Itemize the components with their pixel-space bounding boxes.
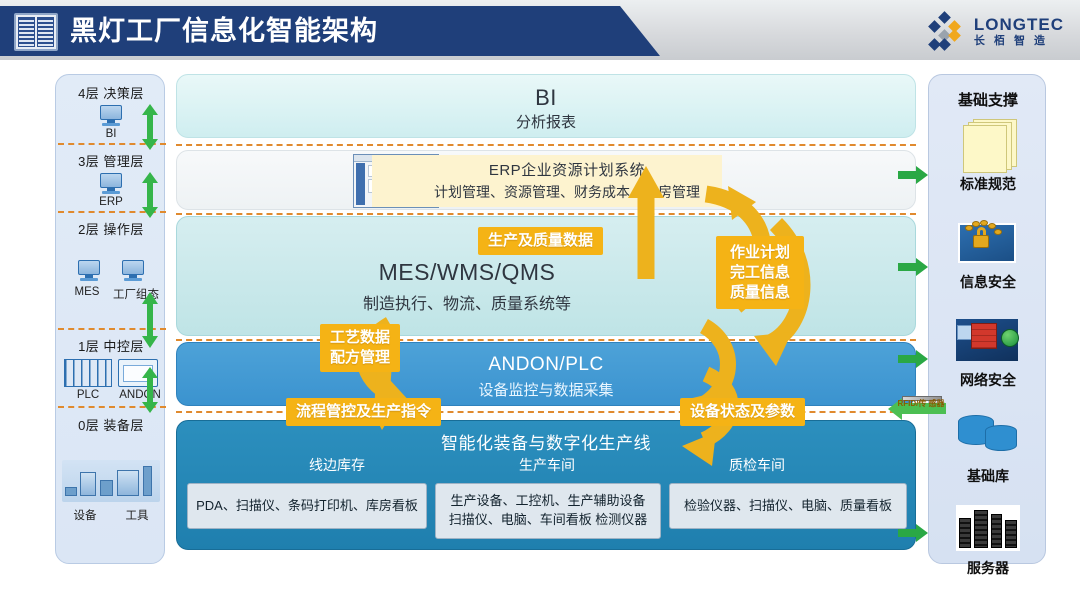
layer-device-plc: PLC — [60, 389, 116, 401]
andon-title: ANDON/PLC — [177, 354, 915, 376]
layer-device-mes: MES — [66, 286, 108, 298]
callout-job-plan: 作业计划 完工信息 质量信息 — [716, 236, 804, 309]
lock-monitor-icon — [953, 215, 1023, 269]
database-cylinder-icon — [953, 409, 1023, 463]
firewall-globe-icon — [953, 313, 1023, 367]
desktop-pc-icon-mes — [78, 260, 100, 281]
rail-bi-erp — [176, 144, 916, 146]
layer-title-0: 0层 装备层 — [56, 415, 166, 434]
support-label-netsec: 网络安全 — [929, 370, 1047, 390]
callout-production-quality-data: 生产及质量数据 — [478, 227, 603, 255]
machinery-icon — [62, 460, 160, 502]
layer-link-arrow-4-3 — [142, 104, 158, 150]
band-bi: BI 分析报表 — [176, 74, 916, 138]
equipment-col-label-1: 生产车间 — [457, 455, 637, 475]
erp-title: ERP企业资源计划系统 — [307, 159, 827, 180]
support-item-server: 服务器 — [929, 501, 1047, 578]
book-right-page — [37, 17, 54, 47]
support-arrow-netsec — [898, 350, 928, 368]
page-title: 黑灯工厂信息化智能架构 — [70, 13, 378, 49]
support-item-netsec: 网络安全 — [929, 313, 1047, 390]
support-column: 基础支撑 标准规范 信息安全 — [928, 74, 1046, 564]
mes-title: MES/WMS/QMS — [257, 259, 677, 286]
band-erp: ERP企业资源计划系统 计划管理、资源管理、财务成本、库房管理 — [176, 150, 916, 210]
rail-mes-andon — [176, 339, 916, 341]
support-column-title: 基础支撑 — [929, 89, 1047, 110]
support-item-database: 基础库 — [929, 409, 1047, 486]
support-label-database: 基础库 — [929, 466, 1047, 486]
logo-text: LONGTEC 长 栢 智 造 — [974, 16, 1064, 47]
equipment-items-1: 生产设备、工控机、生产辅助设备 扫描仪、电脑、车间看板 检测仪器 — [435, 483, 661, 539]
support-arrow-standards — [898, 166, 928, 184]
support-label-server: 服务器 — [929, 558, 1047, 578]
diagram-canvas: 4层 决策层 BI 3层 管理层 ERP 2层 操作层 MES 工厂组态 1层 … — [0, 62, 1080, 608]
plc-rack-icon — [64, 359, 112, 387]
equipment-items-0: PDA、扫描仪、条码打印机、库房看板 — [187, 483, 427, 529]
book-left-page — [18, 17, 35, 47]
support-arrow-server — [898, 524, 928, 542]
desktop-pc-icon-scada — [122, 260, 144, 281]
layer-link-arrow-1-0 — [142, 367, 158, 413]
logo-diamond-mark — [924, 12, 966, 50]
layer-link-arrow-3-2 — [142, 172, 158, 218]
support-label-standards: 标准规范 — [929, 174, 1047, 194]
equipment-col-label-0: 线边库存 — [247, 455, 427, 475]
band-andon: ANDON/PLC 设备监控与数据采集 — [176, 342, 916, 406]
desktop-pc-icon-bi — [100, 105, 122, 126]
layer-device-equipment: 设备 — [62, 507, 108, 523]
band-equipment: 智能化装备与数字化生产线 线边库存 生产车间 质检车间 PDA、扫描仪、条码打印… — [176, 420, 916, 550]
equipment-title: 智能化装备与数字化生产线 — [177, 429, 915, 454]
layer-title-3: 3层 管理层 — [56, 151, 166, 170]
support-item-infosec: 信息安全 — [929, 215, 1047, 292]
page-header: 黑灯工厂信息化智能架构 LONGTEC 长 栢 智 造 — [0, 0, 1080, 62]
callout-device-status: 设备状态及参数 — [680, 398, 805, 426]
layer-title-2: 2层 操作层 — [56, 219, 166, 238]
book-icon — [14, 13, 58, 51]
support-item-standards: 标准规范 — [929, 117, 1047, 194]
callout-process-control: 流程管控及生产指令 — [286, 398, 441, 426]
architecture-stack: BI 分析报表 ERP企业资源计划系统 计划管理、资源管理、财务成本、库房管理 — [176, 74, 916, 564]
equipment-items-2: 检验仪器、扫描仪、电脑、质量看板 — [669, 483, 907, 529]
server-rack-icon — [953, 501, 1023, 555]
documents-stack-icon — [953, 117, 1023, 171]
rfid-label: RFID/传 感器 — [892, 400, 950, 408]
support-arrow-infosec — [898, 258, 928, 276]
rail-erp-mes — [176, 213, 916, 215]
equipment-col-label-2: 质检车间 — [667, 455, 847, 475]
andon-subtitle: 设备监控与数据采集 — [177, 379, 915, 400]
logo-name-en: LONGTEC — [974, 16, 1064, 33]
desktop-pc-icon-erp — [100, 173, 122, 194]
logo-name-cn: 长 栢 智 造 — [974, 36, 1064, 47]
mes-subtitle: 制造执行、物流、质量系统等 — [257, 290, 677, 314]
callout-process-data: 工艺数据 配方管理 — [320, 324, 400, 372]
layer-title-4: 4层 决策层 — [56, 83, 166, 102]
layer-device-tools: 工具 — [114, 507, 160, 523]
bi-subtitle: 分析报表 — [177, 111, 915, 132]
layer-device-andon: ANDON — [112, 389, 168, 401]
bi-title: BI — [177, 85, 915, 111]
support-label-infosec: 信息安全 — [929, 272, 1047, 292]
layer-link-arrow-2-1 — [142, 292, 158, 348]
company-logo: LONGTEC 长 栢 智 造 — [924, 12, 1064, 50]
erp-subtitle: 计划管理、资源管理、财务成本、库房管理 — [307, 182, 827, 202]
